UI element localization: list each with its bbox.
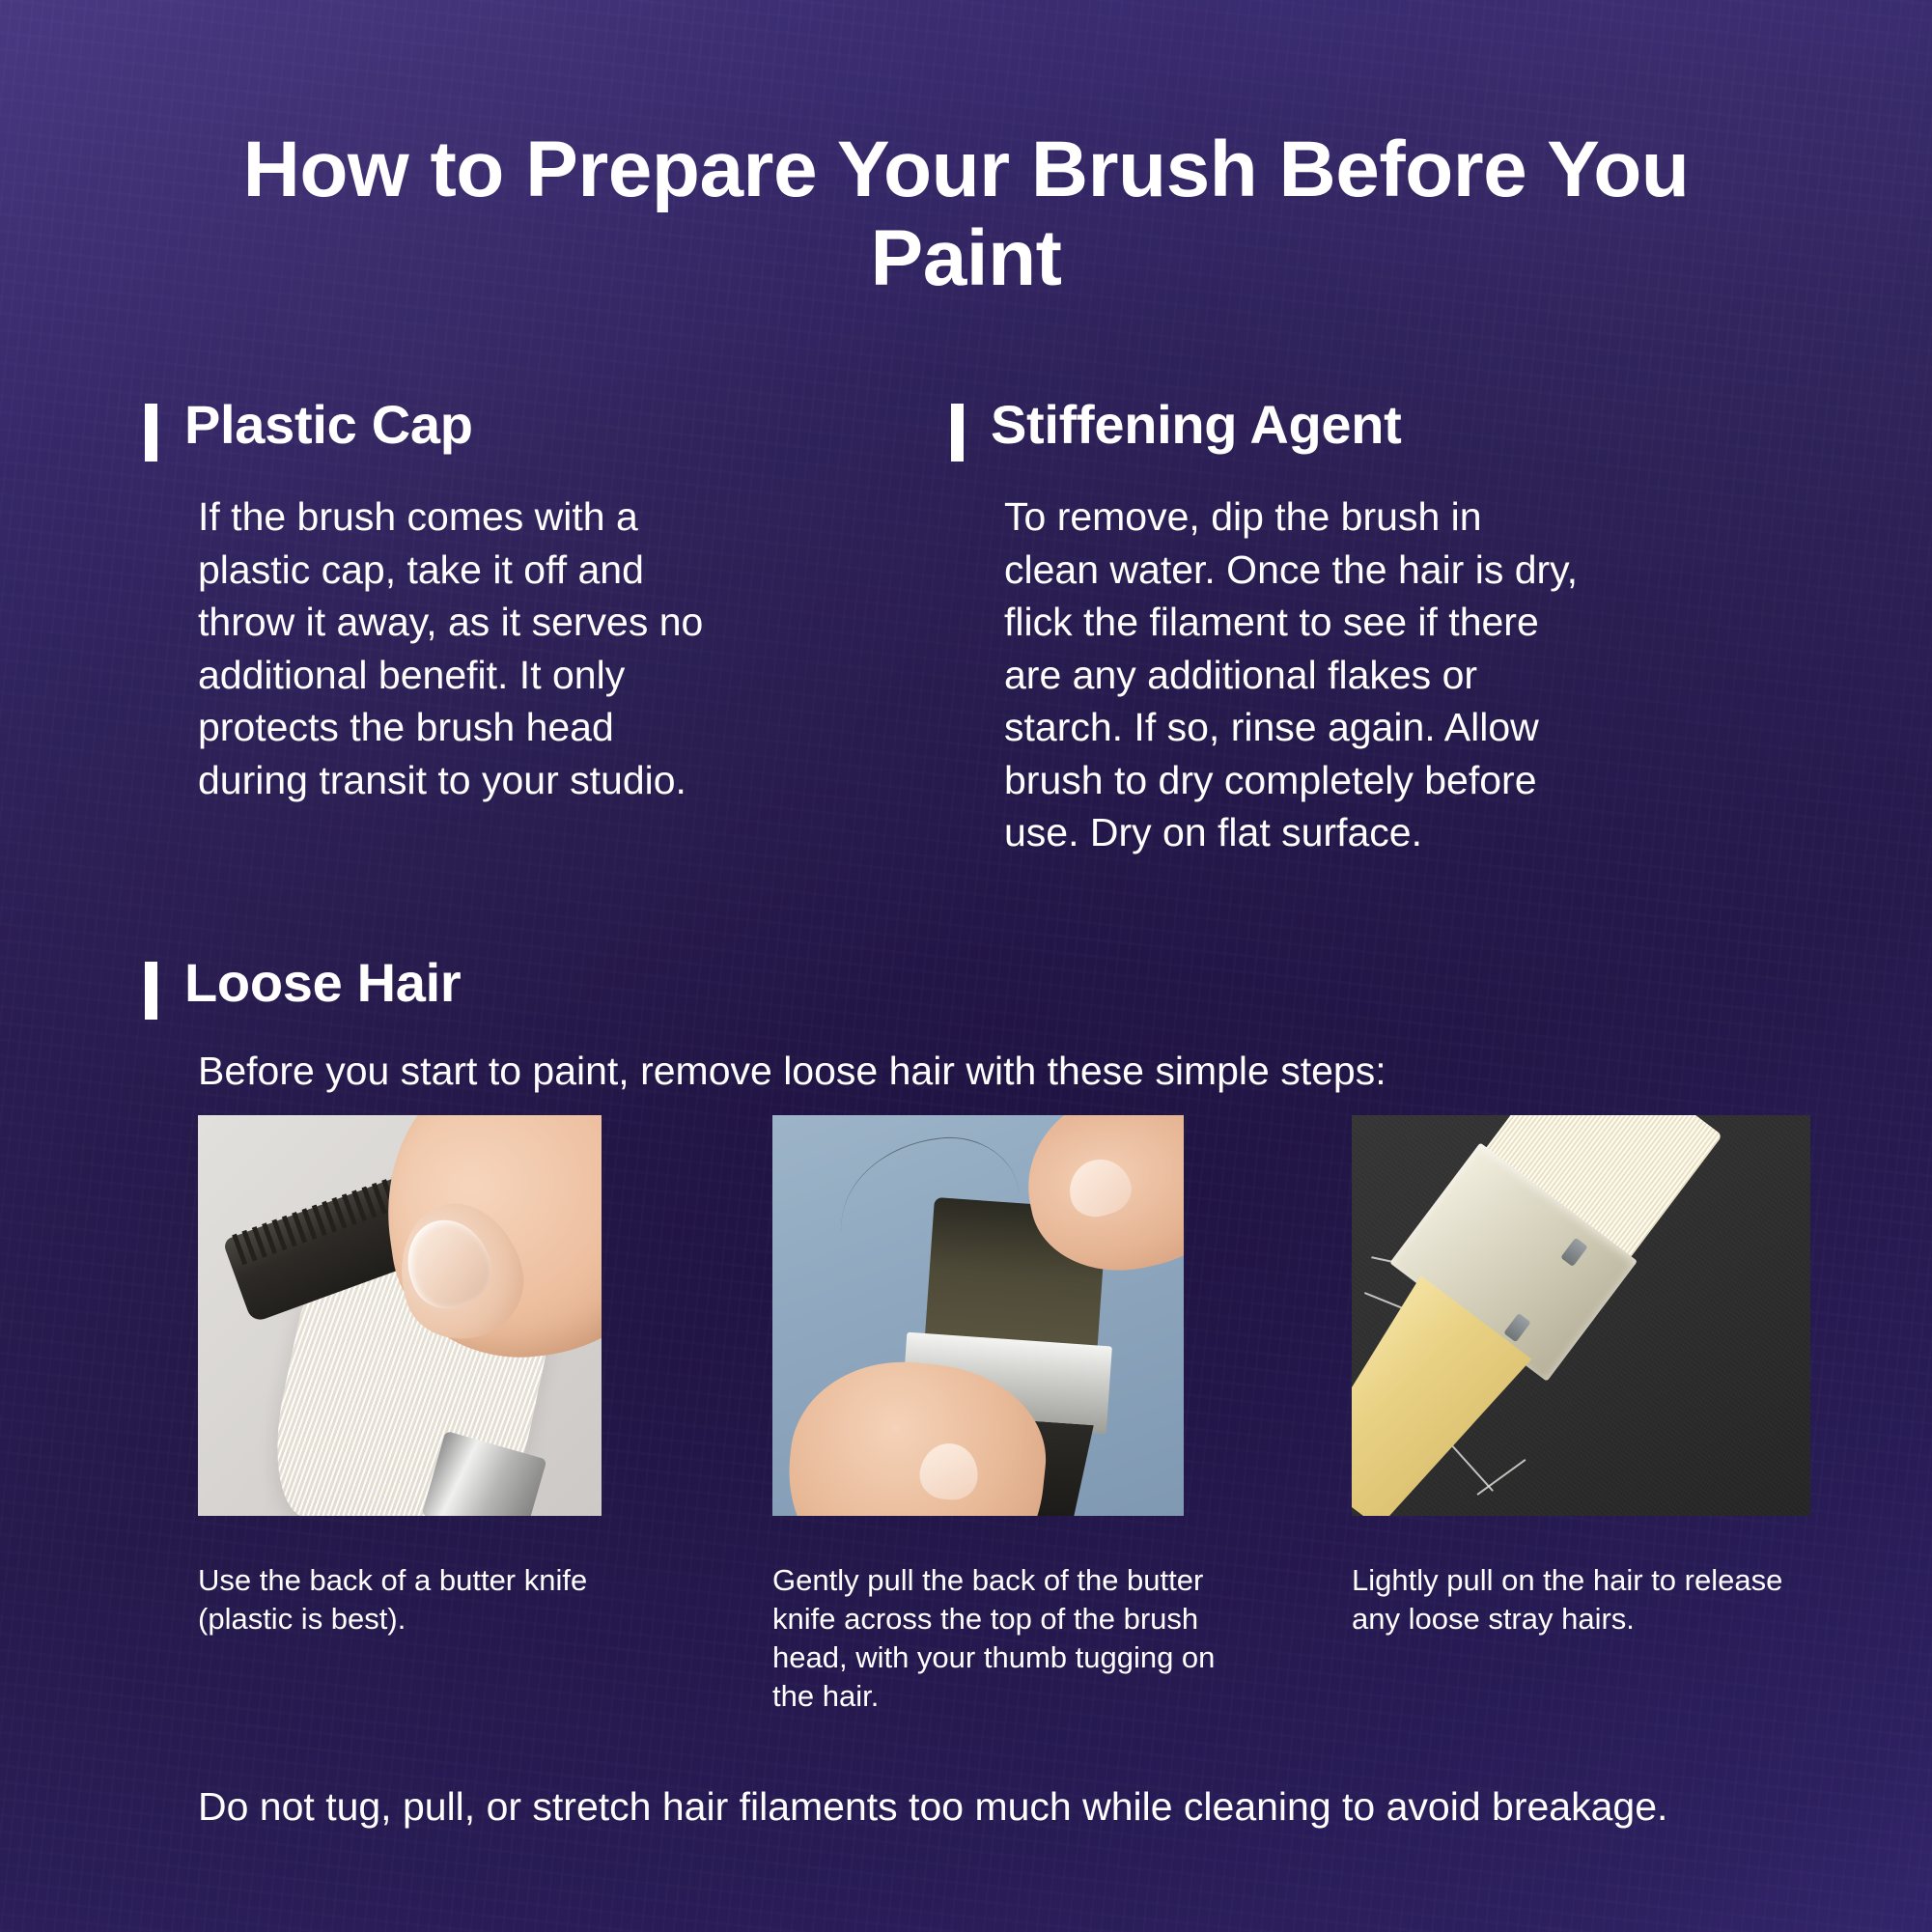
- infographic-page: How to Prepare Your Brush Before You Pai…: [0, 0, 1932, 1932]
- accent-bar-icon: [145, 404, 157, 462]
- step-photo-butter-knife-on-bristles: [198, 1115, 602, 1516]
- section-title-stiffening-agent: Stiffening Agent: [991, 398, 1402, 452]
- footer-warning-note: Do not tug, pull, or stretch hair filame…: [198, 1781, 1781, 1833]
- section-body-plastic-cap: If the brush comes with a plastic cap, t…: [198, 490, 719, 806]
- section-heading-loose-hair: Loose Hair: [145, 956, 461, 1020]
- step-photo-pulling-knife-across-brush: [772, 1115, 1184, 1516]
- accent-bar-icon: [145, 962, 157, 1020]
- step-caption-2: Gently pull the back of the butter knife…: [772, 1561, 1226, 1716]
- section-heading-plastic-cap: Plastic Cap: [145, 398, 473, 462]
- loose-hair-intro: Before you start to paint, remove loose …: [198, 1045, 1781, 1098]
- section-body-stiffening-agent: To remove, dip the brush in clean water.…: [1004, 490, 1583, 859]
- page-title: How to Prepare Your Brush Before You Pai…: [0, 126, 1932, 303]
- loose-hair-photo-row: [0, 1115, 1932, 1521]
- section-heading-stiffening-agent: Stiffening Agent: [951, 398, 1402, 462]
- step-caption-1: Use the back of a butter knife (plastic …: [198, 1561, 603, 1638]
- section-title-plastic-cap: Plastic Cap: [184, 398, 473, 452]
- accent-bar-icon: [951, 404, 964, 462]
- step-caption-3: Lightly pull on the hair to release any …: [1352, 1561, 1796, 1638]
- section-title-loose-hair: Loose Hair: [184, 956, 461, 1010]
- step-photo-loose-hairs-on-dark-surface: [1352, 1115, 1810, 1516]
